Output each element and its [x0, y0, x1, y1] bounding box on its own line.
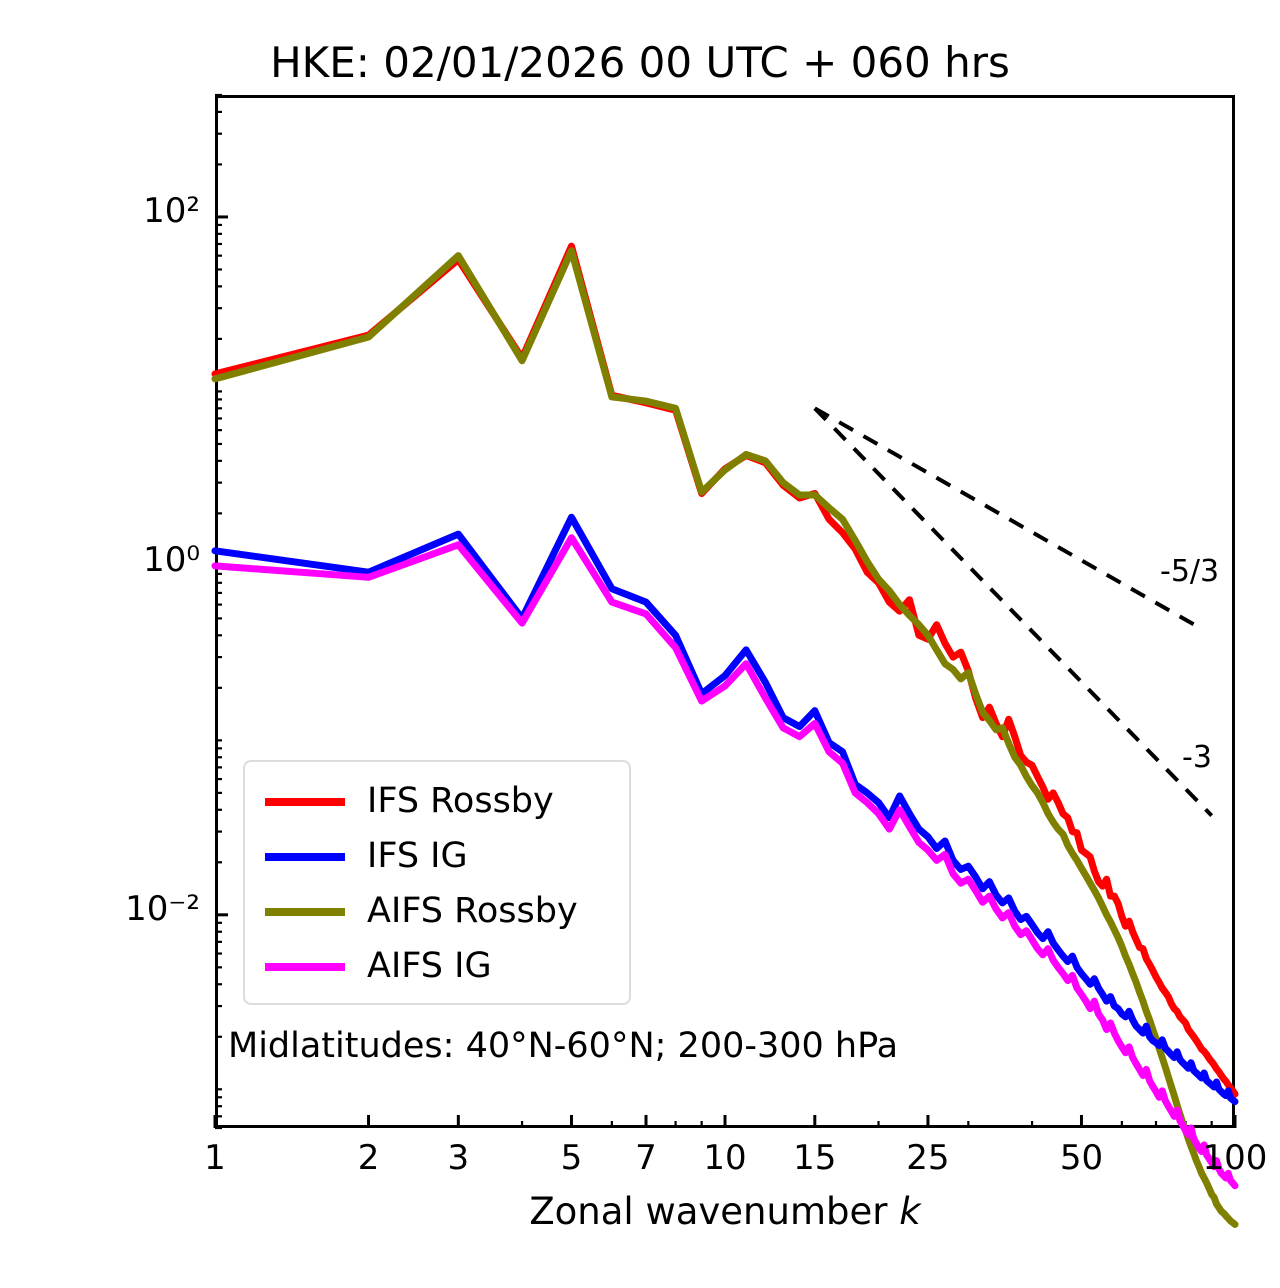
x-tick-label: 15	[775, 1138, 855, 1178]
x-tick-label: 25	[888, 1138, 968, 1178]
x-tick-label: 3	[418, 1138, 498, 1178]
legend-swatch-ifs-ig	[265, 853, 345, 861]
legend-label-ifs-rossby: IFS Rossby	[367, 784, 554, 819]
legend: IFS Rossby IFS IG AIFS Rossby AIFS IG	[243, 760, 631, 1005]
legend-label-ifs-ig: IFS IG	[367, 839, 468, 874]
slope-label-five-thirds: -5/3	[1160, 554, 1219, 589]
x-tick-label: 50	[1041, 1138, 1121, 1178]
legend-label-aifs-ig: AIFS IG	[367, 949, 492, 984]
legend-swatch-aifs-rossby	[265, 908, 345, 916]
x-tick-label: 1	[175, 1138, 255, 1178]
legend-item-aifs-ig: AIFS IG	[245, 939, 629, 994]
region-annotation: Midlatitudes: 40°N-60°N; 200-300 hPa	[228, 1026, 898, 1066]
y-tick-label: 10⁰	[10, 540, 200, 580]
x-axis-label: Zonal wavenumber k	[215, 1190, 1235, 1233]
legend-item-aifs-rossby: AIFS Rossby	[245, 884, 629, 939]
chart-figure: HKE: 02/01/2026 00 UTC + 060 hrs Horizon…	[0, 0, 1280, 1288]
x-tick-label: 5	[531, 1138, 611, 1178]
x-tick-label: 7	[606, 1138, 686, 1178]
x-tick-label: 100	[1195, 1138, 1275, 1178]
legend-swatch-ifs-rossby	[265, 798, 345, 806]
x-axis-label-symbol: k	[899, 1190, 920, 1233]
legend-label-aifs-rossby: AIFS Rossby	[367, 894, 578, 929]
slope-label-minus-three: -3	[1182, 740, 1212, 775]
series-line-aifs-rossby	[215, 251, 1235, 1225]
legend-item-ifs-rossby: IFS Rossby	[245, 774, 629, 829]
y-tick-label: 10⁻²	[10, 889, 200, 929]
legend-swatch-aifs-ig	[265, 963, 345, 971]
x-tick-label: 10	[685, 1138, 765, 1178]
y-tick-label: 10²	[10, 191, 200, 231]
x-axis-label-text: Zonal wavenumber	[529, 1190, 899, 1233]
legend-item-ifs-ig: IFS IG	[245, 829, 629, 884]
x-tick-label: 2	[329, 1138, 409, 1178]
